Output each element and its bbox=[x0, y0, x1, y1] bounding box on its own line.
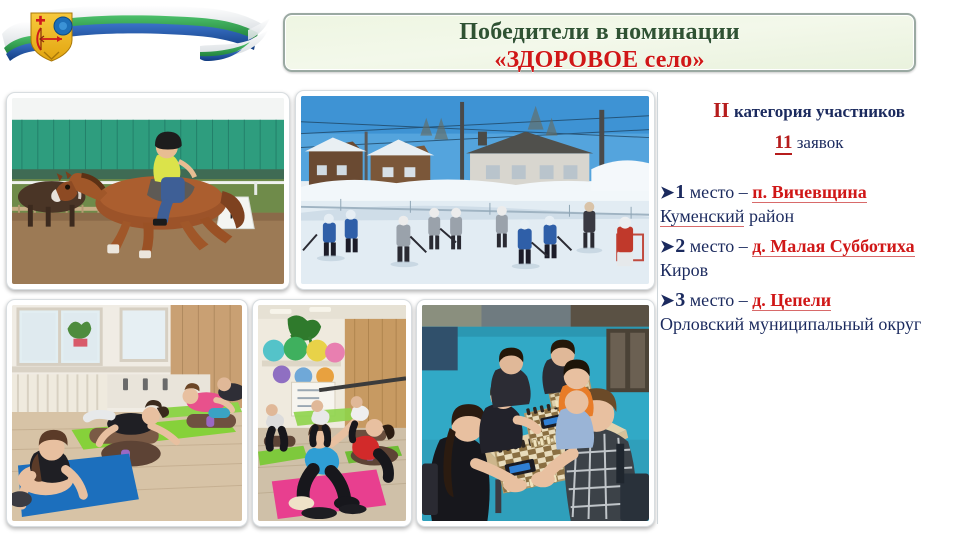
title-line-1: Победители в номинации bbox=[285, 18, 914, 47]
region-line-3: Орловский муниципальный округ bbox=[660, 313, 958, 336]
photo-yoga-class bbox=[6, 299, 248, 527]
photo-fitness-class bbox=[252, 299, 412, 527]
arrow-bullet-icon: ➤ bbox=[660, 237, 674, 256]
place-entry-1: ➤1 место – п. Вичевщина Куменский район bbox=[660, 180, 958, 229]
category-label: категория участников bbox=[734, 102, 905, 121]
region-district-1: Куменский bbox=[660, 206, 744, 227]
region-line-2: Киров bbox=[660, 259, 958, 282]
region-line-1: Куменский район bbox=[660, 205, 958, 228]
vertical-divider bbox=[657, 92, 658, 524]
coat-of-arms-shield bbox=[31, 13, 72, 61]
region-suffix-3: Орловский муниципальный округ bbox=[660, 314, 921, 334]
presentation-slide: Победители в номинации «ЗДОРОВОЕ село» bbox=[0, 0, 960, 537]
place-rank-3: 3 bbox=[675, 289, 685, 311]
title-banner: Победители в номинации «ЗДОРОВОЕ село» bbox=[283, 13, 916, 72]
place-dash-2: – bbox=[739, 236, 748, 256]
winner-name-1: п. Вичевщина bbox=[752, 182, 867, 203]
results-panel: II категория участников 11 заявок ➤1 мес… bbox=[660, 92, 958, 532]
region-suffix-1: район bbox=[744, 206, 794, 226]
region-suffix-2: Киров bbox=[660, 260, 708, 280]
winner-name-2: д. Малая Субботиха bbox=[752, 236, 914, 257]
winner-name-3: д. Цепели bbox=[752, 290, 831, 311]
place-entry-3: ➤3 место – д. Цепели Орловский муниципал… bbox=[660, 288, 958, 337]
applications-count-line: 11 заявок bbox=[660, 133, 958, 152]
category-roman-numeral: II bbox=[713, 98, 729, 122]
category-heading: II категория участников bbox=[660, 100, 958, 121]
photo-horse-riding: M bbox=[6, 92, 290, 290]
place-rank-2: 2 bbox=[675, 235, 685, 257]
applications-count: 11 bbox=[775, 132, 793, 155]
place-rank-1: 1 bbox=[675, 181, 685, 203]
place-word-1: место bbox=[690, 182, 734, 202]
applications-word: заявок bbox=[797, 133, 844, 152]
place-entry-2: ➤2 место – д. Малая Субботиха Киров bbox=[660, 234, 958, 283]
kirov-oblast-emblem-ribbon bbox=[0, 0, 272, 78]
place-word-3: место bbox=[690, 290, 734, 310]
photo-chess-tournament bbox=[416, 299, 655, 527]
place-dash-1: – bbox=[739, 182, 748, 202]
title-line-2: «ЗДОРОВОЕ село» bbox=[285, 47, 914, 74]
place-word-2: место bbox=[690, 236, 734, 256]
photo-ice-hockey bbox=[295, 90, 655, 290]
arrow-bullet-icon: ➤ bbox=[660, 291, 674, 310]
place-dash-3: – bbox=[739, 290, 748, 310]
arrow-bullet-icon: ➤ bbox=[660, 183, 674, 202]
